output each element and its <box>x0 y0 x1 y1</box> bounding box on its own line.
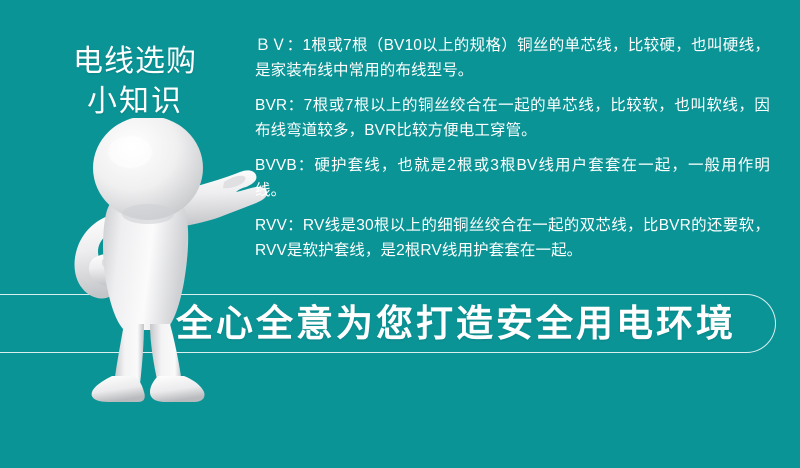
heading-line-1: 电线选购 <box>40 42 230 82</box>
paragraph-rvv: RVV：RV线是30根以上的细铜丝绞合在一起的双芯线，比BVR的还要软，RVV是… <box>255 213 770 263</box>
heading-line-2: 小知识 <box>40 82 230 122</box>
paragraph-bvvb: BVVB：硬护套线，也就是2根或3根BV线用户套套在一起，一般用作明线。 <box>255 153 770 203</box>
poster-heading: 电线选购 小知识 <box>40 42 230 121</box>
wire-type-descriptions: ＢＶ：1根或7根（BV10以上的规格）铜丝的单芯线，比较硬，也叫硬线，是家装布线… <box>255 33 770 263</box>
slogan-text: 全心全意为您打造安全用电环境 <box>176 299 736 349</box>
paragraph-bv: ＢＶ：1根或7根（BV10以上的规格）铜丝的单芯线，比较硬，也叫硬线，是家装布线… <box>255 33 770 83</box>
mannequin-figure <box>28 118 278 408</box>
paragraph-bvr: BVR：7根或7根以上的铜丝绞合在一起的单芯线，比较软，也叫软线，因布线弯道较多… <box>255 93 770 143</box>
poster-canvas: 电线选购 小知识 ＢＶ：1根或7根（BV10以上的规格）铜丝的单芯线，比较硬，也… <box>0 0 800 468</box>
